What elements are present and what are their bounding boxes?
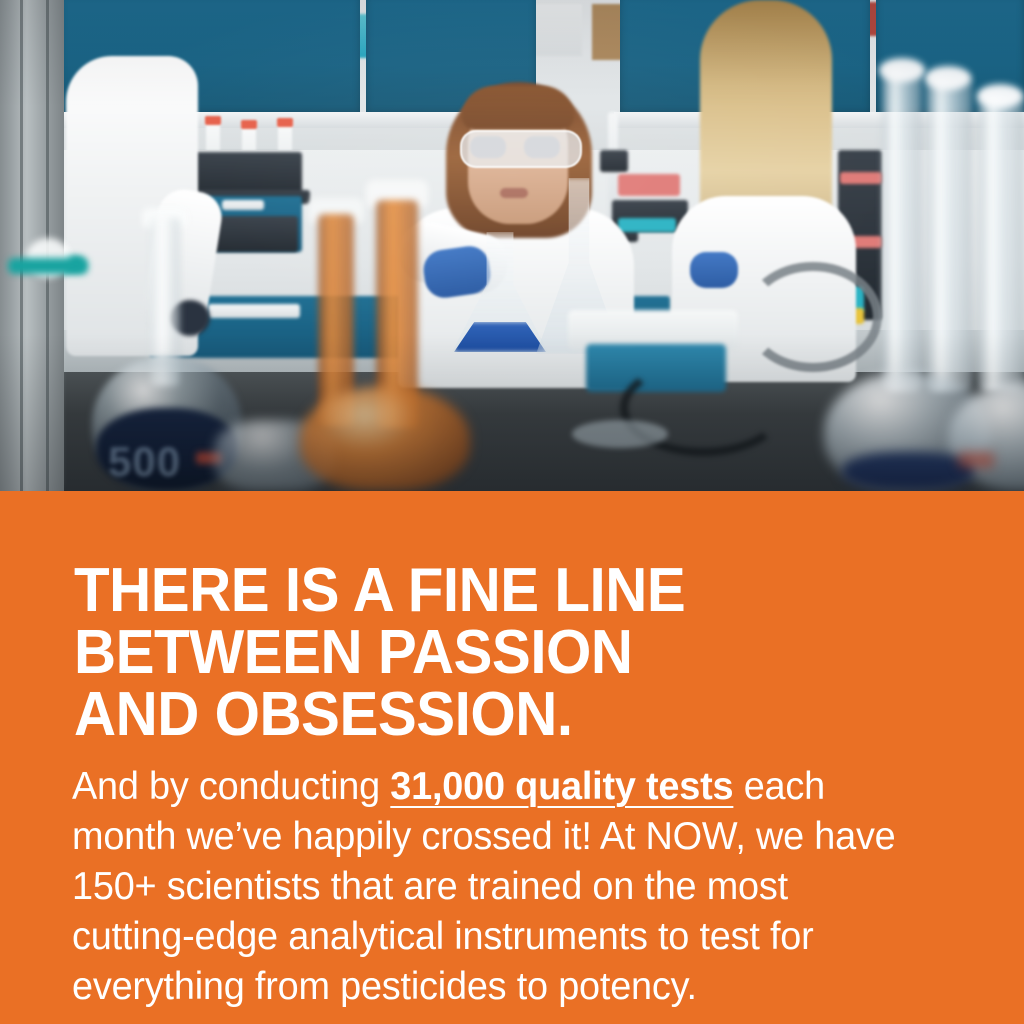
cabinet-white-box bbox=[530, 4, 582, 56]
headline: THERE IS A FINE LINE BETWEEN PASSION AND… bbox=[74, 560, 920, 746]
petri-dish bbox=[572, 420, 668, 448]
volumetric-flask-neck bbox=[882, 66, 922, 392]
shelf-pink-item bbox=[840, 172, 882, 184]
gray-hose bbox=[744, 262, 882, 372]
volumetric-flask-neck bbox=[978, 92, 1024, 392]
instrument-display bbox=[222, 200, 264, 210]
volumetric-flask-neck bbox=[926, 74, 972, 392]
flask-volume-label: 500 bbox=[108, 438, 181, 486]
tube-cap bbox=[241, 120, 257, 129]
blue-nitrile-glove bbox=[690, 252, 738, 288]
social-media-card: 500 THERE IS A FINE LINE BETWEEN PASSION… bbox=[0, 0, 1024, 1024]
flask-red-marking bbox=[958, 452, 994, 468]
quality-tests-emphasis: 31,000 quality tests bbox=[390, 765, 733, 808]
flask-graduation-bead bbox=[977, 84, 1023, 108]
flask-liquid bbox=[842, 452, 974, 491]
pink-tray bbox=[618, 174, 680, 196]
scientist-fringe bbox=[462, 86, 574, 130]
body-text-before: And by conducting bbox=[72, 765, 390, 808]
laboratory-photo: 500 bbox=[0, 0, 1024, 491]
flask-graduation-bead bbox=[879, 58, 925, 82]
flask-graduation-bead bbox=[925, 66, 971, 90]
amber-flask-bulb bbox=[300, 386, 470, 491]
scientist-mouth bbox=[500, 188, 528, 198]
orange-message-panel: THERE IS A FINE LINE BETWEEN PASSION AND… bbox=[0, 491, 1024, 1024]
door-frame-groove bbox=[20, 0, 23, 491]
safety-goggles bbox=[460, 130, 582, 168]
tube-cap bbox=[205, 116, 221, 125]
bench-label bbox=[208, 304, 300, 318]
tube-cap bbox=[277, 118, 293, 127]
body-paragraph: And by conducting 31,000 quality tests e… bbox=[72, 762, 916, 1012]
pipette-teal-cap bbox=[8, 258, 88, 274]
teal-accent bbox=[618, 218, 676, 232]
stand-clamp bbox=[600, 150, 628, 172]
